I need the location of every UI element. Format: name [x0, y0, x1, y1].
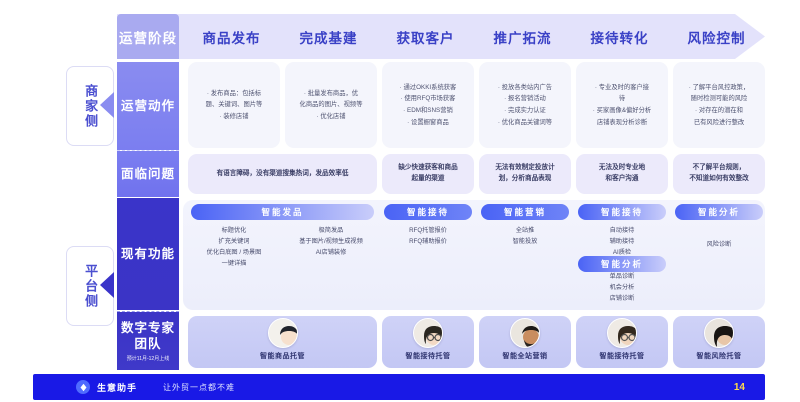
function-col-3: RFQ托管报价 RFQ辅助报价 — [382, 200, 474, 310]
avatar-female-glasses-2 — [607, 318, 637, 348]
pointer-platform-icon — [100, 272, 114, 298]
avatar-male-suit — [268, 318, 298, 348]
function-col-1-line-1: 标题优化 — [222, 226, 247, 237]
function-col-1-line-3: 优化白底图 / 场景图 — [207, 248, 262, 259]
action-card-2-line-3: · 优化店铺 — [316, 111, 345, 123]
action-card-5-line-1: · 专业及时的客户接 — [595, 82, 649, 94]
action-card-4-line-3: · 完成实力认证 — [504, 105, 546, 117]
action-card-6: · 了解平台风控政策， 随时检测可能的风险 · 对存在的潜在和 已有风险进行整改 — [673, 62, 765, 148]
avatar-female-glasses — [413, 318, 443, 348]
action-card-3-line-4: · 设置橱窗商品 — [407, 117, 449, 129]
header-stage-3[interactable]: 获取客户 — [377, 14, 474, 59]
function-col-5-line-2: 辅助接待 — [610, 237, 635, 248]
problem-card-2: 缺少快速获客和商品 起量的渠道 — [382, 154, 474, 194]
expert-card-2[interactable]: 智能接待托管 — [382, 316, 474, 368]
problem-card-3: 无法有效制定投放计 划，分析商品表现 — [479, 154, 571, 194]
row-label-functions-text: 现有功能 — [121, 246, 175, 262]
function-col-1: 标题优化 扩充关键词 优化白底图 / 场景图 一键详描 — [188, 200, 280, 310]
function-col-2-line-1: 极简发品 — [319, 226, 344, 237]
diamond-icon — [76, 380, 90, 394]
problem-card-4-line-2: 和客户沟通 — [606, 174, 639, 185]
action-card-6-line-3: · 对存在的潜在和 — [695, 105, 743, 117]
action-card-1: · 发布商品：包括标 题、关键词、图片等 · 装修店铺 — [188, 62, 280, 148]
slide-canvas: 运营阶段 商品发布 完成基建 获取客户 推广拓流 接待转化 风险控制 商家侧 平… — [0, 0, 800, 402]
page-number: 14 — [734, 382, 745, 393]
expert-card-3[interactable]: 智能全站营销 — [479, 316, 571, 368]
header-stage-5[interactable]: 接待转化 — [571, 14, 668, 59]
row-label-functions: 现有功能 — [117, 198, 179, 310]
action-card-4-line-2: · 报名营销活动 — [504, 93, 546, 105]
action-card-5-line-2: 待 — [619, 93, 625, 105]
action-card-1-line-3: · 装修店铺 — [219, 111, 248, 123]
problem-card-5: 不了解平台规则， 不知道如何有效整改 — [673, 154, 765, 194]
expert-card-1-label: 智能商品托管 — [260, 351, 305, 361]
function-col-5-line-1: 自动接待 — [610, 226, 635, 237]
action-card-4-line-1: · 投放各类站内广告 — [498, 82, 552, 94]
side-group-platform-label: 平台侧 — [82, 264, 98, 309]
action-card-3: · 通过OKKI系统获客 · 使用RFQ市场获客 · EDM和SNS营销 · 设… — [382, 62, 474, 148]
function-col-4-line-1: 全站推 — [516, 226, 535, 237]
expert-card-1[interactable]: 智能商品托管 — [188, 316, 377, 368]
problem-card-3-line-1: 无法有效制定投放计 — [495, 163, 554, 174]
problem-card-2-line-2: 起量的渠道 — [412, 174, 445, 185]
function-col-2-line-2: 基于图片/视频生成视频 — [299, 237, 363, 248]
function-col-4-line-2: 智能投放 — [513, 237, 538, 248]
function-col-6: 风险诊断 — [673, 200, 765, 310]
expert-card-4-label: 智能接待托管 — [600, 351, 645, 361]
footer-bar: 生意助手 让外贸一点都不难 14 — [33, 374, 765, 400]
expert-card-5[interactable]: 智能风险托管 — [673, 316, 765, 368]
function-col-3-line-2: RFQ辅助报价 — [409, 237, 447, 248]
row-label-problems-text: 面临问题 — [121, 166, 175, 182]
action-card-5-line-4: 店铺表现分析诊断 — [597, 117, 647, 129]
action-card-3-line-2: · 使用RFQ市场获客 — [401, 93, 456, 105]
footer-brand: 生意助手 — [97, 381, 137, 394]
action-card-5: · 专业及时的客户接 待 · 买家画像&偏好分析 店铺表现分析诊断 — [576, 62, 668, 148]
action-card-2-line-2: 化商品的图片、视频等 — [300, 99, 363, 111]
pointer-merchant-icon — [100, 92, 114, 118]
stage-header-band: 运营阶段 商品发布 完成基建 获取客户 推广拓流 接待转化 风险控制 — [117, 14, 765, 59]
function-col-5b-line-3: 店铺诊断 — [610, 294, 635, 305]
function-col-5b-line-1: 单品诊断 — [610, 272, 635, 283]
action-card-6-line-4: 已有风险进行整改 — [694, 117, 744, 129]
action-card-4-line-4: · 优化商品关键词等 — [498, 117, 552, 129]
avatar-male-beard — [510, 318, 540, 348]
expert-card-3-label: 智能全站营销 — [503, 351, 548, 361]
header-stage-6[interactable]: 风险控制 — [668, 14, 765, 59]
footer-slogan: 让外贸一点都不难 — [163, 382, 235, 393]
action-card-6-line-2: 随时检测可能的风险 — [691, 93, 748, 105]
function-col-3-line-1: RFQ托管报价 — [409, 226, 447, 237]
row-label-experts: 数字专家团队 预计11月-12月上线 — [117, 312, 179, 370]
header-stage-1[interactable]: 商品发布 — [183, 14, 280, 59]
function-col-2: 极简发品 基于图片/视频生成视频 AI店铺装修 — [283, 200, 379, 310]
action-card-4: · 投放各类站内广告 · 报名营销活动 · 完成实力认证 · 优化商品关键词等 — [479, 62, 571, 148]
header-stage-label: 运营阶段 — [117, 14, 179, 59]
problem-card-4: 无法及时专业地 和客户沟通 — [576, 154, 668, 194]
function-col-5b-line-2: 机会分析 — [610, 283, 635, 294]
problem-card-5-line-1: 不了解平台规则， — [693, 163, 746, 174]
expert-card-2-label: 智能接待托管 — [406, 351, 451, 361]
problem-card-5-line-2: 不知道如何有效整改 — [689, 174, 748, 185]
header-stage-4[interactable]: 推广拓流 — [474, 14, 571, 59]
action-card-2-line-1: · 批量发布商品，优 — [304, 88, 358, 100]
row-label-experts-sub: 预计11月-12月上线 — [127, 356, 169, 363]
avatar-female-dark — [704, 318, 734, 348]
problem-card-1-line-1: 有语言障碍，没有渠道搜集热词，发品效率低 — [217, 169, 349, 180]
function-col-5b: 单品诊断 机会分析 店铺诊断 — [576, 272, 668, 310]
problem-card-2-line-1: 缺少快速获客和商品 — [398, 163, 457, 174]
expert-card-5-label: 智能风险托管 — [697, 351, 742, 361]
action-card-3-line-1: · 通过OKKI系统获客 — [400, 82, 457, 94]
problem-card-1: 有语言障碍，没有渠道搜集热词，发品效率低 — [188, 154, 377, 194]
action-card-1-line-2: 题、关键词、图片等 — [206, 99, 263, 111]
row-label-actions-text: 运营动作 — [121, 98, 175, 114]
action-card-1-line-1: · 发布商品：包括标 — [207, 88, 261, 100]
action-card-6-line-1: · 了解平台风控政策， — [689, 82, 750, 94]
problem-card-4-line-1: 无法及时专业地 — [599, 163, 645, 174]
row-label-problems: 面临问题 — [117, 151, 179, 197]
function-col-4: 全站推 智能投放 — [479, 200, 571, 310]
function-col-1-line-4: 一键详描 — [222, 259, 247, 270]
action-card-5-line-3: · 买家画像&偏好分析 — [593, 105, 651, 117]
row-label-actions: 运营动作 — [117, 62, 179, 150]
badge-smart-analysis-mid[interactable]: 智能分析 — [578, 256, 666, 272]
action-card-2: · 批量发布商品，优 化商品的图片、视频等 · 优化店铺 — [285, 62, 377, 148]
function-col-1-line-2: 扩充关键词 — [219, 237, 250, 248]
function-col-2-line-3: AI店铺装修 — [316, 248, 347, 259]
side-group-merchant-label: 商家侧 — [82, 84, 98, 129]
header-stage-2[interactable]: 完成基建 — [280, 14, 377, 59]
problem-card-3-line-2: 划，分析商品表现 — [499, 174, 552, 185]
function-col-6-line-1: 风险诊断 — [707, 240, 732, 251]
action-card-3-line-3: · EDM和SNS营销 — [403, 105, 453, 117]
row-label-experts-text: 数字专家团队 — [117, 320, 179, 353]
expert-card-4[interactable]: 智能接待托管 — [576, 316, 668, 368]
